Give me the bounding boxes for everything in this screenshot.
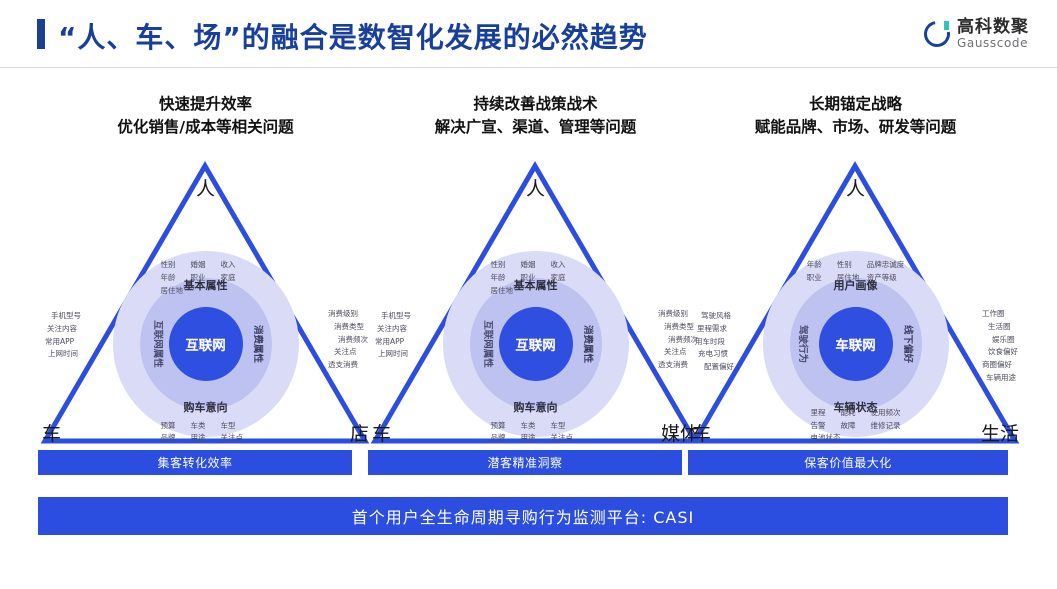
satellite-label: 车类 bbox=[521, 420, 551, 433]
triangle-corner-right: 店 bbox=[350, 425, 369, 444]
satellite-label: 上网时间 bbox=[48, 348, 78, 361]
ring-right-label: 线下偏好 bbox=[902, 325, 916, 363]
satellite-label: 车辆用途 bbox=[986, 372, 1016, 385]
satellite-label: 商圈偏好 bbox=[982, 359, 1012, 372]
satellite-group-left: 驾驶风格里程需求用车时段充电习惯配置偏好 bbox=[695, 310, 734, 374]
satellite-label: 维修记录 bbox=[871, 420, 901, 433]
triangle-corner-top: 人 bbox=[526, 180, 545, 199]
satellite-row: 消费频次 bbox=[658, 334, 698, 347]
satellite-label: 消费级别 bbox=[328, 308, 358, 321]
satellite-label: 家庭 bbox=[551, 272, 581, 285]
ring-right-label: 消费属性 bbox=[582, 325, 596, 363]
column-heading-line2: 赋能品牌、市场、研发等问题 bbox=[688, 116, 1023, 139]
satellite-label: 性别 bbox=[837, 259, 867, 272]
satellite-label: 职业 bbox=[191, 272, 221, 285]
satellite-label: 婚姻 bbox=[191, 259, 221, 272]
satellite-label: 关注点 bbox=[551, 432, 581, 445]
outcome-bar-conversion: 集客转化效率 bbox=[38, 450, 352, 475]
satellite-group-top: 年龄性别品牌忠诚度职业居住地资产等级 bbox=[807, 259, 905, 285]
satellite-label: 用车时段 bbox=[695, 336, 725, 349]
ring-left-label: 驾驶行为 bbox=[797, 325, 811, 363]
satellite-label: 居住地 bbox=[491, 285, 521, 298]
satellite-label: 性别 bbox=[161, 259, 191, 272]
satellite-row: 里程需求 bbox=[695, 323, 734, 336]
satellite-row: 常用APP bbox=[45, 336, 81, 349]
satellite-label: 娱乐圈 bbox=[992, 334, 1016, 347]
satellite-label: 饮食偏好 bbox=[988, 346, 1018, 359]
satellite-label: 品牌忠诚度 bbox=[867, 259, 905, 272]
satellite-row: 消费类型 bbox=[658, 321, 698, 334]
satellite-row: 年龄职业家庭 bbox=[161, 272, 251, 285]
satellite-row: 居住地 bbox=[491, 285, 581, 298]
column-heading-line1: 长期锚定战略 bbox=[688, 93, 1023, 116]
triangle-corner-left: 车 bbox=[42, 425, 61, 444]
column-container: 快速提升效率 优化销售/成本等相关问题 人 车 店 当贝数聚 互联网 基本属性 … bbox=[0, 68, 1057, 488]
ring-center-label: 互联网 bbox=[515, 334, 556, 354]
satellite-label: 常用APP bbox=[375, 336, 404, 349]
satellite-label: 预算 bbox=[491, 420, 521, 433]
satellite-group-left: 手机型号关注内容常用APP上网时间 bbox=[45, 310, 81, 361]
column-heading-line1: 持续改善战策战术 bbox=[368, 93, 703, 116]
satellite-row: 居住地 bbox=[161, 285, 251, 298]
satellite-label: 常用APP bbox=[45, 336, 74, 349]
satellite-label: 手机型号 bbox=[51, 310, 81, 323]
satellite-label: 消费级别 bbox=[658, 308, 688, 321]
satellite-label: 透支消费 bbox=[658, 359, 688, 372]
triangle-corner-left: 车 bbox=[372, 425, 391, 444]
satellite-label: 品牌 bbox=[491, 432, 521, 445]
satellite-row: 电池状态 bbox=[811, 432, 901, 445]
satellite-label: 手机型号 bbox=[381, 310, 411, 323]
satellite-group-top: 性别婚姻收入年龄职业家庭居住地 bbox=[161, 259, 251, 297]
triangle-diagram: 人 车 媒体 当贝数聚 互联网 基本属性 购车意向 互联网属性 消费属性 性别婚… bbox=[368, 158, 703, 448]
satellite-group-right: 工作圈生活圈娱乐圈饮食偏好商圈偏好车辆用途 bbox=[982, 308, 1018, 385]
satellite-label: 告警 bbox=[811, 420, 841, 433]
satellite-label: 生活圈 bbox=[988, 321, 1012, 334]
logo-mark-icon bbox=[924, 21, 950, 47]
satellite-row: 上网时间 bbox=[375, 348, 411, 361]
column-heading-line2: 解决广宣、渠道、管理等问题 bbox=[368, 116, 703, 139]
satellite-row: 用车时段 bbox=[695, 336, 734, 349]
column-heading-line2: 优化销售/成本等相关问题 bbox=[38, 116, 373, 139]
satellite-row: 透支消费 bbox=[328, 359, 368, 372]
ring-left-label: 互联网属性 bbox=[151, 320, 165, 368]
logo-text: 高科数聚 Gausscode bbox=[957, 19, 1029, 49]
column-heading: 持续改善战策战术 解决广宣、渠道、管理等问题 bbox=[368, 93, 703, 140]
satellite-row: 车辆用途 bbox=[982, 372, 1018, 385]
satellite-label: 婚姻 bbox=[521, 259, 551, 272]
column-long-term-strategy: 长期锚定战略 赋能品牌、市场、研发等问题 人 车 生活 当贝数聚 车联网 用户画… bbox=[688, 68, 1023, 488]
ring-center-label: 互联网 bbox=[185, 334, 226, 354]
ring-bottom-label: 购车意向 bbox=[184, 399, 228, 415]
satellite-row: 驾驶风格 bbox=[695, 310, 734, 323]
satellite-row: 性别婚姻收入 bbox=[491, 259, 581, 272]
ring-left-label: 互联网属性 bbox=[481, 320, 495, 368]
satellite-label: 关注点 bbox=[221, 432, 251, 445]
satellite-row: 生活圈 bbox=[982, 321, 1018, 334]
satellite-label: 年龄 bbox=[161, 272, 191, 285]
satellite-label: 性别 bbox=[491, 259, 521, 272]
satellite-group-bottom: 预算车类车型品牌用途关注点 bbox=[161, 420, 251, 446]
brand-logo: 高科数聚 Gausscode bbox=[924, 13, 1029, 55]
column-quick-efficiency: 快速提升效率 优化销售/成本等相关问题 人 车 店 当贝数聚 互联网 基本属性 … bbox=[38, 68, 373, 488]
logo-name-cn: 高科数聚 bbox=[957, 19, 1029, 37]
satellite-group-right: 消费级别消费类型消费频次关注点透支消费 bbox=[328, 308, 368, 372]
logo-ring-shape bbox=[919, 16, 955, 52]
satellite-row: 充电习惯 bbox=[695, 348, 734, 361]
satellite-row: 饮食偏好 bbox=[982, 346, 1018, 359]
satellite-label: 充电习惯 bbox=[698, 348, 728, 361]
satellite-label: 故障 bbox=[841, 420, 871, 433]
satellite-row: 透支消费 bbox=[658, 359, 698, 372]
satellite-label: 工作圈 bbox=[982, 308, 1006, 321]
column-heading-line1: 快速提升效率 bbox=[38, 93, 373, 116]
triangle-corner-right: 生活 bbox=[981, 425, 1019, 444]
ring-center-label: 车联网 bbox=[835, 334, 876, 354]
satellite-label: 透支消费 bbox=[328, 359, 358, 372]
satellite-row: 配置偏好 bbox=[695, 361, 734, 374]
satellite-row: 品牌用途关注点 bbox=[491, 432, 581, 445]
satellite-label: 消费频次 bbox=[668, 334, 698, 347]
title-accent-bar bbox=[37, 19, 45, 49]
satellite-label: 年龄 bbox=[807, 259, 837, 272]
satellite-label: 车类 bbox=[191, 420, 221, 433]
satellite-label: 资产等级 bbox=[867, 272, 897, 285]
satellite-row: 商圈偏好 bbox=[982, 359, 1018, 372]
satellite-row: 娱乐圈 bbox=[982, 334, 1018, 347]
satellite-label: 使用频次 bbox=[871, 407, 901, 420]
satellite-label: 驾驶风格 bbox=[701, 310, 731, 323]
platform-footer-bar: 首个用户全生命周期寻购行为监测平台: CASI bbox=[38, 497, 1008, 535]
satellite-group-left: 手机型号关注内容常用APP上网时间 bbox=[375, 310, 411, 361]
satellite-row: 关注内容 bbox=[375, 323, 411, 336]
satellite-group-top: 性别婚姻收入年龄职业家庭居住地 bbox=[491, 259, 581, 297]
satellite-label: 车型 bbox=[551, 420, 581, 433]
column-heading: 快速提升效率 优化销售/成本等相关问题 bbox=[38, 93, 373, 140]
satellite-label: 品牌 bbox=[161, 432, 191, 445]
column-continuous-improvement: 持续改善战策战术 解决广宣、渠道、管理等问题 人 车 媒体 当贝数聚 互联网 基… bbox=[368, 68, 703, 488]
satellite-label: 用途 bbox=[191, 432, 221, 445]
satellite-label: 职业 bbox=[807, 272, 837, 285]
satellite-label: 能耗 bbox=[841, 407, 871, 420]
satellite-row: 预算车类车型 bbox=[161, 420, 251, 433]
satellite-label: 年龄 bbox=[491, 272, 521, 285]
satellite-label: 关注内容 bbox=[377, 323, 407, 336]
satellite-label: 电池状态 bbox=[811, 432, 841, 445]
satellite-row: 里程能耗使用频次 bbox=[811, 407, 901, 420]
satellite-row: 上网时间 bbox=[45, 348, 81, 361]
satellite-label: 家庭 bbox=[221, 272, 251, 285]
triangle-diagram: 人 车 店 当贝数聚 互联网 基本属性 购车意向 互联网属性 消费属性 性别婚姻… bbox=[38, 158, 373, 448]
satellite-row: 年龄性别品牌忠诚度 bbox=[807, 259, 905, 272]
satellite-label: 里程需求 bbox=[697, 323, 727, 336]
satellite-group-bottom: 里程能耗使用频次告警故障维修记录电池状态 bbox=[811, 407, 901, 445]
satellite-row: 工作圈 bbox=[982, 308, 1018, 321]
satellite-group-right: 消费级别消费类型消费频次关注点透支消费 bbox=[658, 308, 698, 372]
satellite-label: 关注点 bbox=[334, 346, 358, 359]
satellite-row: 职业居住地资产等级 bbox=[807, 272, 905, 285]
satellite-label: 收入 bbox=[221, 259, 251, 272]
satellite-row: 关注内容 bbox=[45, 323, 81, 336]
satellite-label: 里程 bbox=[811, 407, 841, 420]
slide-header: “人、车、场”的融合是数智化发展的必然趋势 高科数聚 Gausscode bbox=[0, 0, 1057, 68]
satellite-row: 告警故障维修记录 bbox=[811, 420, 901, 433]
satellite-label: 收入 bbox=[551, 259, 581, 272]
satellite-label: 关注内容 bbox=[47, 323, 77, 336]
satellite-label: 用途 bbox=[521, 432, 551, 445]
triangle-corner-top: 人 bbox=[196, 180, 215, 199]
satellite-label: 消费类型 bbox=[334, 321, 364, 334]
outcome-bar-retention: 保客价值最大化 bbox=[688, 450, 1008, 475]
page-title: “人、车、场”的融合是数智化发展的必然趋势 bbox=[58, 16, 648, 56]
satellite-label: 职业 bbox=[521, 272, 551, 285]
satellite-row: 关注点 bbox=[658, 346, 698, 359]
satellite-row: 消费级别 bbox=[658, 308, 698, 321]
ring-bottom-label: 购车意向 bbox=[514, 399, 558, 415]
satellite-row: 预算车类车型 bbox=[491, 420, 581, 433]
satellite-label: 关注点 bbox=[664, 346, 688, 359]
satellite-row: 常用APP bbox=[375, 336, 411, 349]
satellite-label: 预算 bbox=[161, 420, 191, 433]
column-heading: 长期锚定战略 赋能品牌、市场、研发等问题 bbox=[688, 93, 1023, 140]
logo-tick-shape bbox=[944, 21, 949, 30]
satellite-label: 消费频次 bbox=[338, 334, 368, 347]
triangle-corner-top: 人 bbox=[846, 180, 865, 199]
satellite-label: 消费类型 bbox=[664, 321, 694, 334]
satellite-label: 配置偏好 bbox=[704, 361, 734, 374]
satellite-row: 手机型号 bbox=[45, 310, 81, 323]
triangle-corner-left: 车 bbox=[692, 425, 711, 444]
ring-right-label: 消费属性 bbox=[252, 325, 266, 363]
triangle-diagram: 人 车 生活 当贝数聚 车联网 用户画像 车辆状态 驾驶行为 线下偏好 年龄性别… bbox=[688, 158, 1023, 448]
satellite-label: 上网时间 bbox=[378, 348, 408, 361]
satellite-label: 居住地 bbox=[161, 285, 191, 298]
outcome-bar-insight: 潜客精准洞察 bbox=[368, 450, 682, 475]
satellite-row: 消费频次 bbox=[328, 334, 368, 347]
logo-name-en: Gausscode bbox=[957, 37, 1029, 50]
satellite-label: 车型 bbox=[221, 420, 251, 433]
satellite-row: 手机型号 bbox=[375, 310, 411, 323]
satellite-row: 性别婚姻收入 bbox=[161, 259, 251, 272]
satellite-label: 居住地 bbox=[837, 272, 867, 285]
satellite-row: 关注点 bbox=[328, 346, 368, 359]
satellite-row: 消费类型 bbox=[328, 321, 368, 334]
satellite-group-bottom: 预算车类车型品牌用途关注点 bbox=[491, 420, 581, 446]
satellite-row: 消费级别 bbox=[328, 308, 368, 321]
satellite-row: 年龄职业家庭 bbox=[491, 272, 581, 285]
satellite-row: 品牌用途关注点 bbox=[161, 432, 251, 445]
